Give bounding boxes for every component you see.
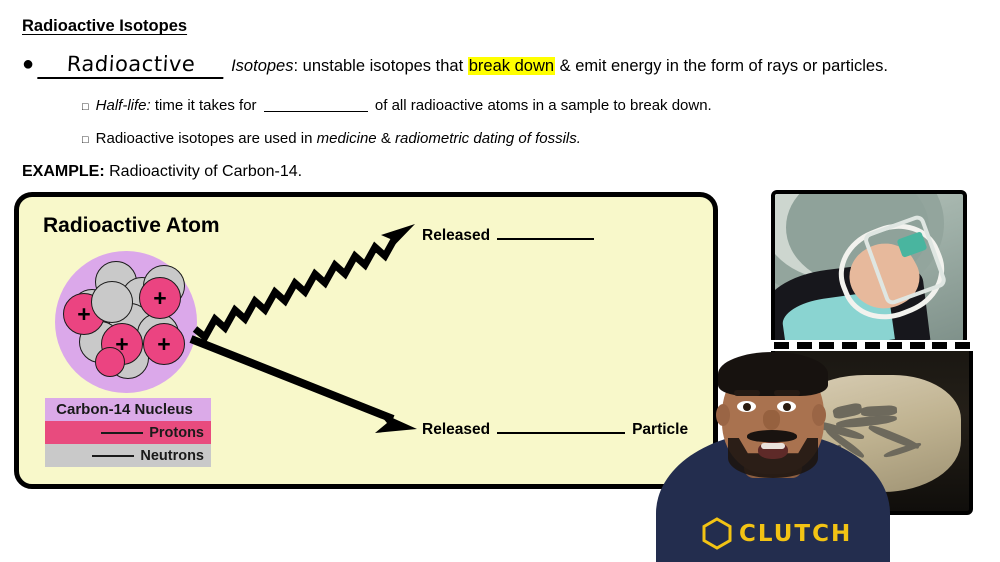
half-life-fill-blank [264,111,368,112]
sub-bullet-uses-text: Radioactive isotopes are used in medicin… [96,130,581,147]
film-perforation [774,342,789,349]
instructor-eyebrow-left [734,390,760,396]
instructor-eye-right [777,401,796,412]
sub-bullet-half-life-text: Half-life: time it takes for of all radi… [96,97,712,114]
released-gamma-text: Released [422,227,490,245]
proton-particle: + [139,277,181,319]
bullet-dot-icon: ● [22,54,34,74]
instructor-video-overlay: CLUTCH [648,352,898,562]
uses-text-a: Radioactive isotopes are used in [96,130,317,147]
term-isotopes: Isotopes [231,57,293,75]
instructor-mustache [747,430,797,442]
legend-row-neutrons: Neutrons [45,444,211,467]
neutron-particle [91,281,133,323]
instructor-ear-right [812,404,826,426]
film-perforation [910,342,925,349]
proton-particle [95,347,125,377]
released-gamma-blank [497,238,594,240]
legend-label-nucleus: Carbon-14 Nucleus [56,401,193,418]
instructor-mouth [758,442,788,459]
diagram-box: Radioactive Atom + + + + Carbon-14 Nucle… [14,192,718,489]
zigzag-arrowhead-icon [381,224,415,255]
instructor-hair [718,352,828,396]
straight-arrow-line [191,339,393,419]
nucleus-legend: Carbon-14 Nucleus Protons Neutrons [45,398,211,467]
main-bullet-row: ● Radioactive Isotopes: unstable isotope… [22,52,888,79]
film-perforation [932,342,947,349]
legend-row-protons: Protons [45,421,211,444]
half-life-text-before: time it takes for [151,97,261,114]
sub-bullet-half-life: □ Half-life: time it takes for of all ra… [82,97,712,114]
nucleus-halo: + + + + [55,251,197,393]
term-half-life: Half-life: [96,97,151,114]
text-after-term: : unstable isotopes that [293,57,467,75]
released-particle-text: Released [422,421,490,439]
film-strip-divider [771,340,973,351]
highlighted-phrase: break down [468,57,555,75]
example-line: EXAMPLE: Radioactivity of Carbon-14. [22,163,302,181]
medical-scanner-photo [771,190,967,345]
film-perforation [842,342,857,349]
film-perforation [865,342,880,349]
uses-italic-medicine: medicine [317,130,377,147]
scanner-image [775,194,963,341]
instructor-eyebrow-right [774,390,800,396]
released-gamma-label: Released [422,227,594,245]
example-text: Radioactivity of Carbon-14. [105,163,302,180]
example-label: EXAMPLE: [22,163,105,180]
diagram-title: Radioactive Atom [43,214,220,238]
legend-row-nucleus: Carbon-14 Nucleus [45,398,211,421]
clutch-brand-logo: CLUTCH [702,517,852,550]
page-title: Radioactive Isotopes [22,17,187,36]
instructor-nose [763,410,780,430]
legend-proton-blank [101,432,143,434]
instructor-eye-left [737,401,756,412]
sub-bullet-uses: □ Radioactive isotopes are used in medic… [82,130,581,147]
film-perforation [797,342,812,349]
legend-neutron-blank [92,455,134,457]
film-perforation [819,342,834,349]
instructor-ear-left [716,404,730,426]
proton-particle: + [143,323,185,365]
legend-label-protons: Protons [149,425,204,441]
text-tail: & emit energy in the form of rays or par… [555,57,888,75]
legend-label-neutrons: Neutrons [140,448,204,464]
square-bullet-icon: □ [82,135,89,146]
released-particle-blank [497,432,625,434]
zigzag-wave-arrow-icon [195,238,395,337]
straight-arrowhead-icon [375,411,417,433]
hexagon-icon [702,517,732,550]
uses-text-b: & [377,130,395,147]
clutch-brand-text: CLUTCH [739,521,852,547]
square-bullet-icon: □ [82,102,89,113]
film-perforation [887,342,902,349]
uses-italic-dating: radiometric dating of fossils. [395,130,581,147]
half-life-text-after: of all radioactive atoms in a sample to … [371,97,712,114]
film-perforation [955,342,970,349]
main-bullet-text: Isotopes: unstable isotopes that break d… [231,57,888,76]
handwritten-answer-blank: Radioactive [37,52,224,79]
